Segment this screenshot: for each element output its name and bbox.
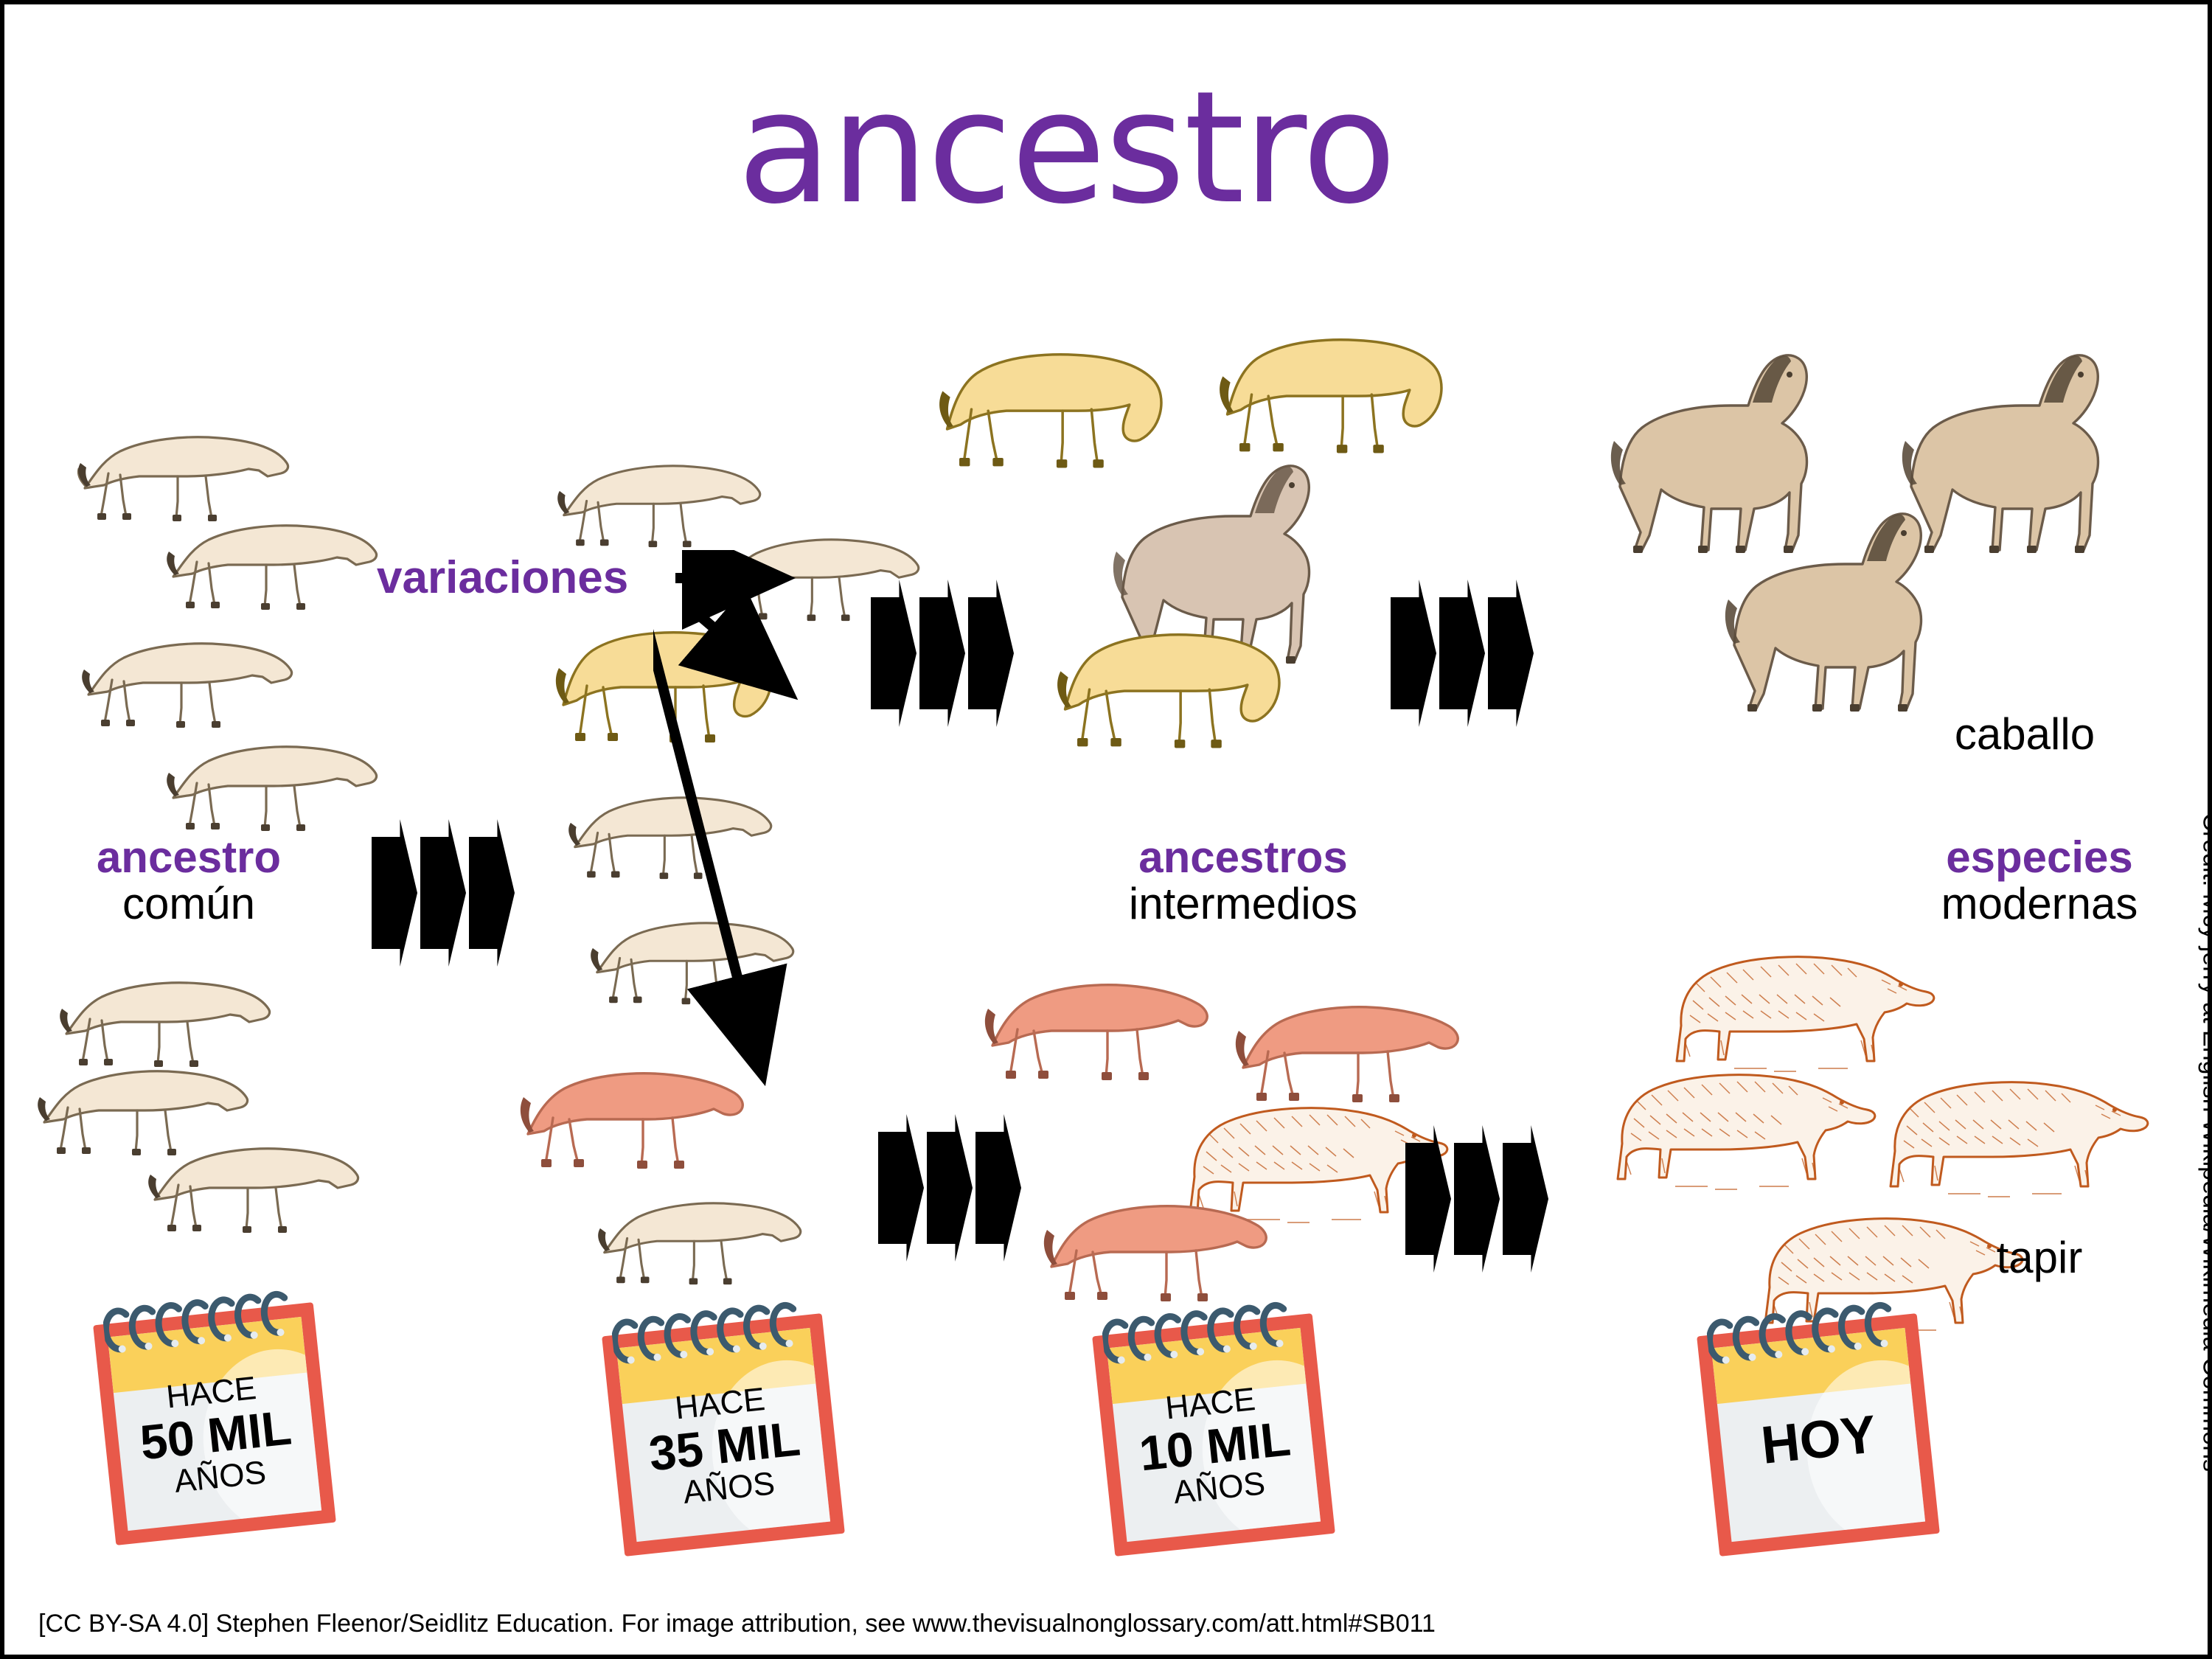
cave-horse-yellow-grazing	[1051, 616, 1302, 757]
cave-horse-cream	[594, 1184, 808, 1287]
label-ancestros-intermedios: ancestros intermedios	[1015, 834, 1472, 927]
license-attribution: [CC BY-SA 4.0] Stephen Fleenor/Seidlitz …	[38, 1610, 1436, 1638]
calendar-50mil: HACE 50 MIL AÑOS	[93, 1302, 336, 1545]
chevron-right-icon	[469, 819, 515, 967]
cave-horse-salmon	[1037, 1184, 1280, 1306]
cave-horse-cream	[78, 624, 299, 731]
calendar-35mil: HACE 35 MIL AÑOS	[602, 1313, 845, 1557]
modern-horse	[1715, 484, 2003, 727]
chevron-right-icon	[1405, 1125, 1451, 1273]
chevron-right-icon	[1439, 580, 1485, 727]
arrow-group-3	[878, 1114, 1024, 1262]
arrow-group-5	[1405, 1125, 1551, 1273]
credit-wrapper: Credit: Mcy jerry at English Wikipedia/W…	[2156, 749, 2200, 1590]
chevron-right-icon	[927, 1114, 973, 1262]
calendar-text: HACE 50 MIL AÑOS	[100, 1366, 332, 1506]
calendar-text: HACE 10 MIL AÑOS	[1099, 1377, 1331, 1517]
label-tapir: tapir	[1936, 1232, 2143, 1283]
cave-horse-yellow-variant	[550, 616, 793, 749]
chevron-right-icon	[1488, 580, 1534, 727]
cave-horse-salmon-variant	[513, 1051, 757, 1173]
cave-horse-cream	[163, 727, 384, 834]
chevron-right-icon	[975, 1114, 1021, 1262]
chevron-right-icon	[420, 819, 466, 967]
chevron-right-icon	[878, 1114, 924, 1262]
label-plain: común	[34, 880, 344, 927]
poster-canvas: ancestro	[0, 0, 2212, 1659]
chevron-right-icon	[968, 580, 1014, 727]
arrow-group-2	[871, 580, 1017, 727]
label-caballo: caballo	[1892, 709, 2157, 759]
cave-horse-cream	[587, 904, 801, 1007]
page-title: ancestro	[4, 71, 2128, 226]
arrow-group-4	[1391, 580, 1537, 727]
chevron-right-icon	[1503, 1125, 1548, 1273]
cave-horse-salmon	[978, 963, 1221, 1085]
chevron-right-icon	[372, 819, 417, 967]
chevron-right-icon	[871, 580, 917, 727]
label-plain: intermedios	[1015, 880, 1472, 927]
label-keyword: ancestros	[1015, 834, 1472, 880]
tapir-engraving	[1877, 1062, 2157, 1210]
cave-horse-cream	[163, 506, 384, 613]
arrow-group-1	[372, 819, 518, 967]
chevron-right-icon	[1391, 580, 1436, 727]
calendar-text: HACE 35 MIL AÑOS	[608, 1377, 841, 1517]
calendar-hoy: HOY	[1697, 1313, 1940, 1557]
tapir-engraving	[1604, 1055, 1885, 1203]
image-credit: Credit: Mcy jerry at English Wikipedia/W…	[2197, 813, 2212, 1472]
chevron-right-icon	[919, 580, 965, 727]
label-ancestro-comun: ancestro común	[34, 834, 344, 927]
label-variaciones: variaciones	[377, 552, 628, 604]
chevron-right-icon	[1454, 1125, 1500, 1273]
label-keyword: ancestro	[34, 834, 344, 880]
cave-horse-cream	[145, 1129, 366, 1236]
cave-horse-cream	[565, 779, 779, 882]
calendar-10mil: HACE 10 MIL AÑOS	[1092, 1313, 1335, 1557]
